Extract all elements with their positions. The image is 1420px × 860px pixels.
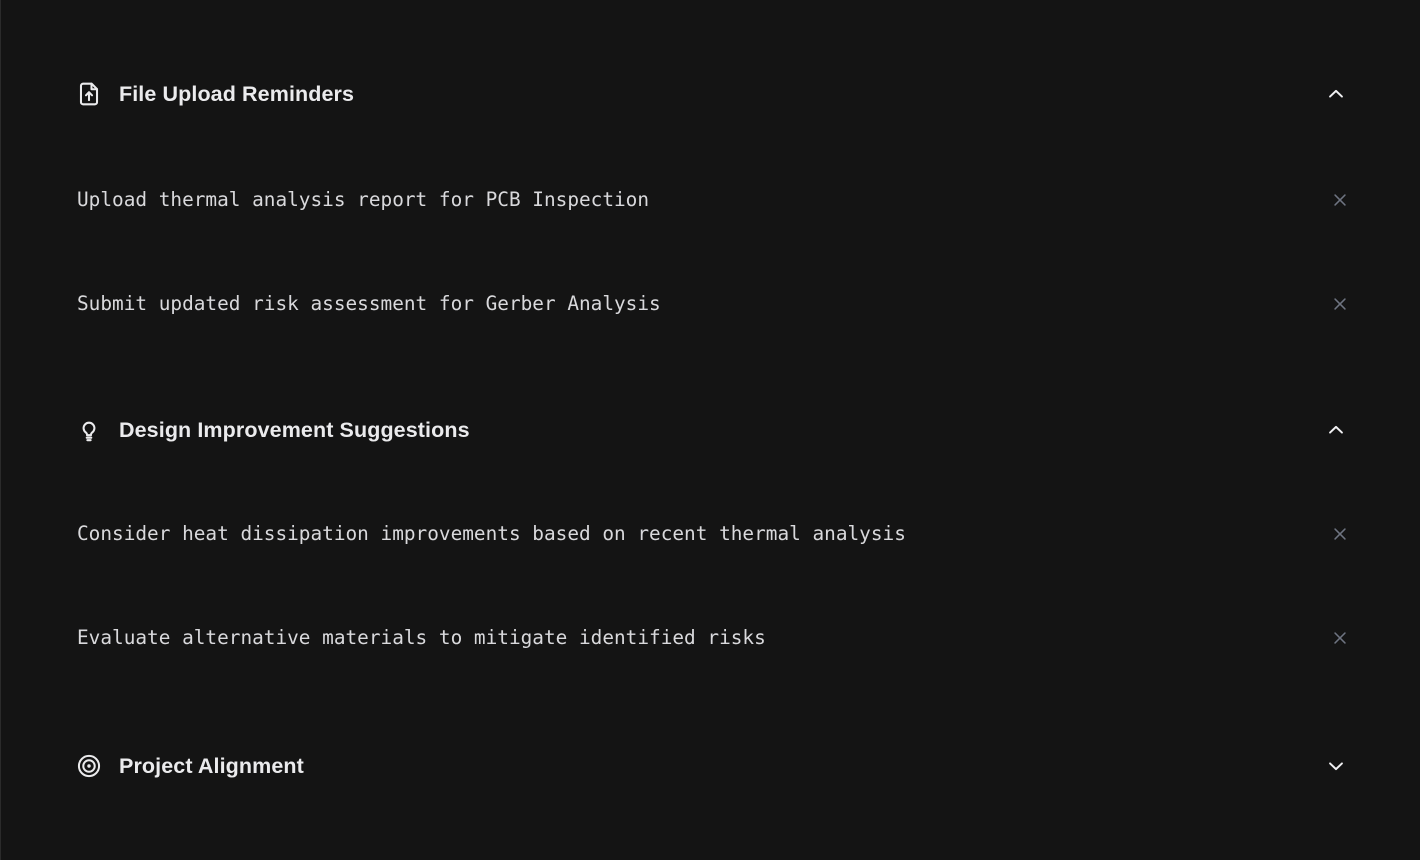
section-header-file-upload-reminders[interactable]: File Upload Reminders [1, 66, 1420, 122]
list-item-label: Submit updated risk assessment for Gerbe… [77, 294, 661, 313]
lightbulb-icon [75, 416, 103, 444]
close-icon[interactable] [1327, 291, 1353, 317]
chevron-up-icon[interactable] [1323, 417, 1349, 443]
close-icon[interactable] [1327, 187, 1353, 213]
close-icon[interactable] [1327, 625, 1353, 651]
list-item[interactable]: Upload thermal analysis report for PCB I… [1, 178, 1420, 222]
file-upload-icon [75, 80, 103, 108]
list-item-label: Consider heat dissipation improvements b… [77, 524, 906, 543]
section-header-project-alignment[interactable]: Project Alignment [1, 738, 1420, 794]
section-header-design-improvement-suggestions[interactable]: Design Improvement Suggestions [1, 402, 1420, 458]
chevron-up-icon[interactable] [1323, 81, 1349, 107]
target-icon [75, 752, 103, 780]
section-title: File Upload Reminders [119, 82, 354, 107]
section-title: Project Alignment [119, 754, 304, 779]
notifications-panel: File Upload Reminders Upload thermal ana… [0, 0, 1420, 860]
list-item-label: Evaluate alternative materials to mitiga… [77, 628, 766, 647]
list-item[interactable]: Evaluate alternative materials to mitiga… [1, 616, 1420, 660]
chevron-down-icon[interactable] [1323, 753, 1349, 779]
close-icon[interactable] [1327, 521, 1353, 547]
list-item[interactable]: Consider heat dissipation improvements b… [1, 512, 1420, 556]
list-item-label: Upload thermal analysis report for PCB I… [77, 190, 649, 209]
list-item[interactable]: Submit updated risk assessment for Gerbe… [1, 282, 1420, 326]
section-title: Design Improvement Suggestions [119, 418, 470, 443]
